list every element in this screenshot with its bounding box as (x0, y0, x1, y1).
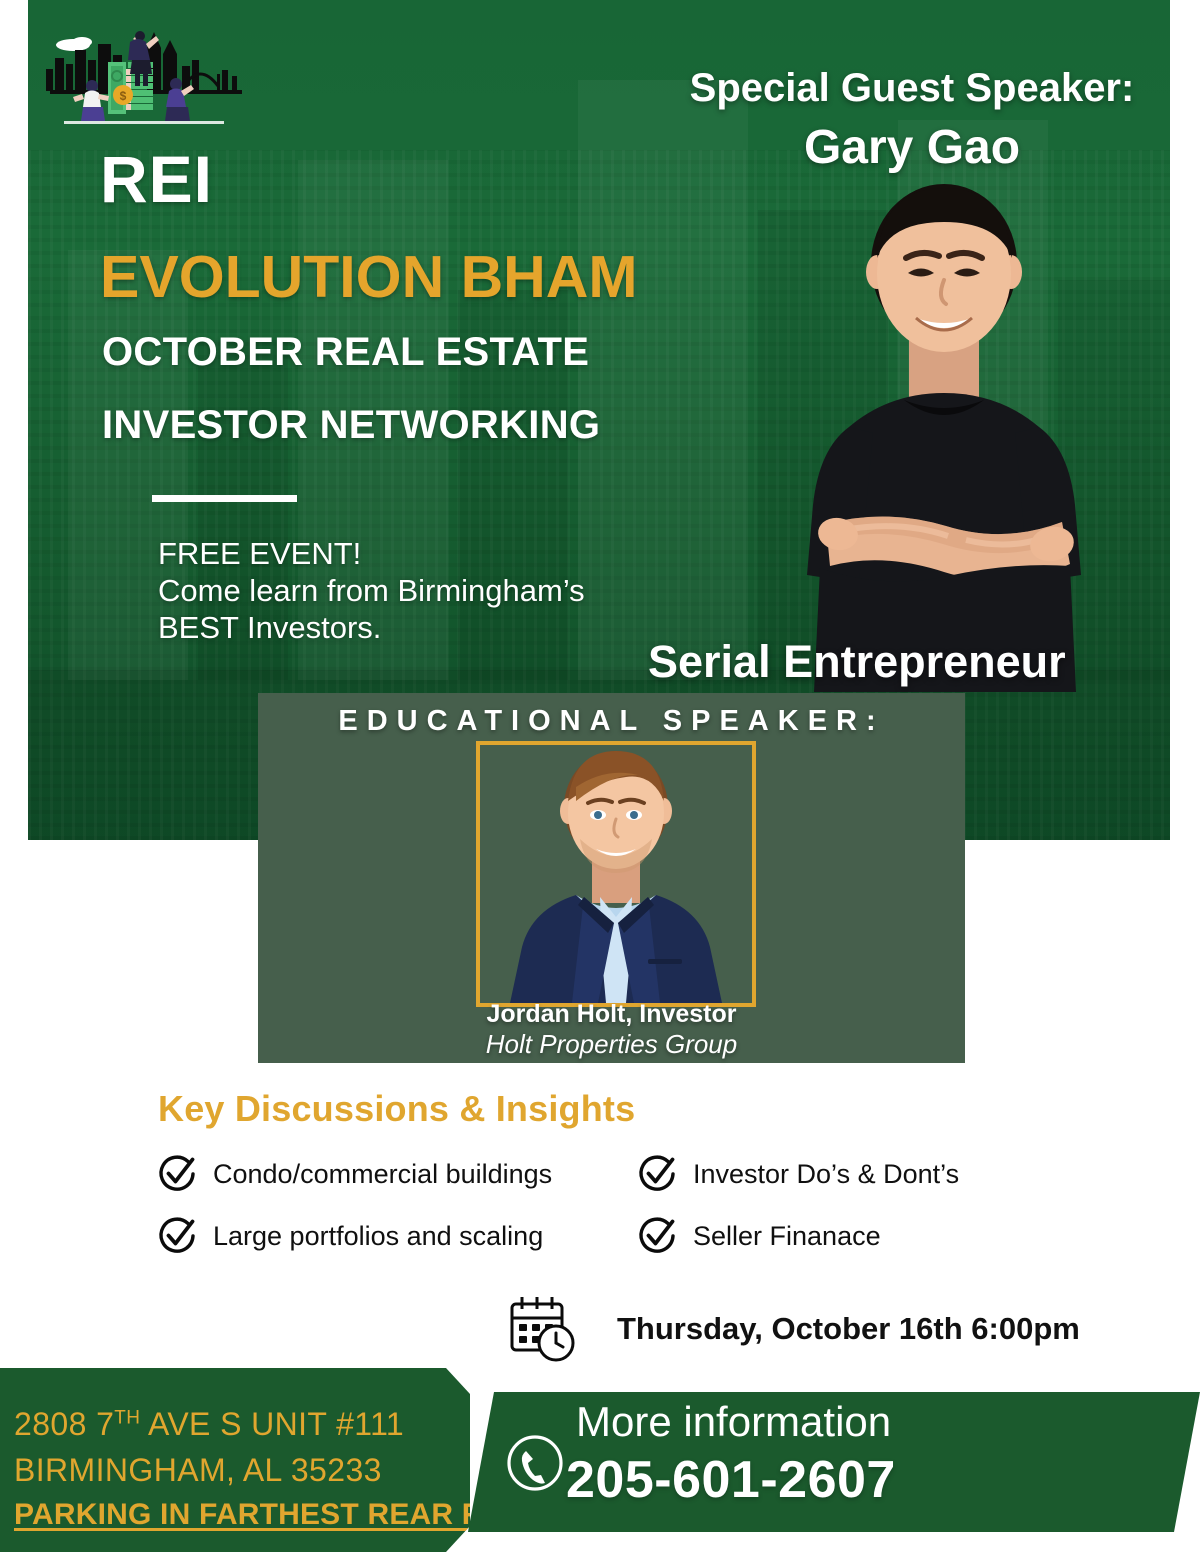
check-circle-icon (155, 1152, 199, 1196)
guest-speaker-photo (734, 172, 1154, 692)
list-item-label: Condo/commercial buildings (213, 1159, 552, 1189)
brand-title-evolution: EVOLUTION BHAM (100, 247, 638, 307)
list-item-label: Investor Do’s & Dont’s (693, 1159, 959, 1189)
list-item: Condo/commercial buildings (155, 1152, 635, 1196)
address-line-1: 2808 7TH AVE S UNIT #111 (14, 1406, 404, 1443)
address-street-rest: AVE S UNIT #111 (140, 1406, 404, 1442)
calendar-clock-icon (505, 1292, 579, 1366)
list-item: Investor Do’s & Dont’s (635, 1152, 1075, 1196)
guest-speaker-name: Gary Gao (662, 122, 1162, 174)
guest-speaker-title: Serial Entrepreneur (648, 637, 1148, 687)
educational-speaker-name: Jordan Holt, Investor (258, 1000, 965, 1029)
check-circle-icon (155, 1214, 199, 1258)
event-subtitle-line2: INVESTOR NETWORKING (102, 403, 600, 447)
educational-speaker-photo (476, 741, 756, 1007)
key-discussions-title: Key Discussions & Insights (158, 1088, 635, 1130)
more-information-label: More information (576, 1398, 891, 1446)
contact-phone-number[interactable]: 205-601-2607 (566, 1450, 896, 1510)
key-discussions-row: Condo/commercial buildings Investor Do’s… (155, 1152, 1085, 1196)
check-circle-icon (635, 1152, 679, 1196)
contact-banner: More information 205-601-2607 (468, 1392, 1200, 1532)
list-item-label: Large portfolios and scaling (213, 1221, 543, 1251)
brand-title-rei: REI (100, 148, 213, 210)
address-line-2: BIRMINGHAM, AL 35233 (14, 1452, 382, 1489)
phone-circle-icon (506, 1434, 564, 1492)
educational-speaker-company: Holt Properties Group (258, 1029, 965, 1060)
location-banner: 2808 7TH AVE S UNIT #111 BIRMINGHAM, AL … (0, 1368, 470, 1552)
key-discussions-list: Condo/commercial buildings Investor Do’s… (155, 1152, 1085, 1258)
list-item-label: Seller Finanace (693, 1221, 881, 1251)
check-circle-icon (635, 1214, 679, 1258)
address-street-number: 2808 7 (14, 1406, 114, 1442)
divider-rule (152, 495, 297, 502)
address-ordinal-suffix: TH (114, 1407, 140, 1428)
event-datetime: Thursday, October 16th 6:00pm (505, 1292, 1080, 1366)
svg-text:$: $ (120, 89, 127, 103)
list-item: Seller Finanace (635, 1214, 1075, 1258)
event-datetime-text: Thursday, October 16th 6:00pm (617, 1311, 1080, 1347)
event-subtitle-line1: OCTOBER REAL ESTATE (102, 330, 589, 374)
educational-speaker-heading: EDUCATIONAL SPEAKER: (258, 705, 965, 738)
key-discussions-row: Large portfolios and scaling Seller Fina… (155, 1214, 1085, 1258)
educational-speaker-panel: EDUCATIONAL SPEAKER: (258, 693, 965, 1063)
rei-evolution-logo: $ (36, 14, 254, 132)
guest-speaker-label: Special Guest Speaker: (662, 66, 1162, 110)
free-event-text: FREE EVENT!Come learn from Birmingham’sB… (158, 535, 585, 646)
list-item: Large portfolios and scaling (155, 1214, 635, 1258)
